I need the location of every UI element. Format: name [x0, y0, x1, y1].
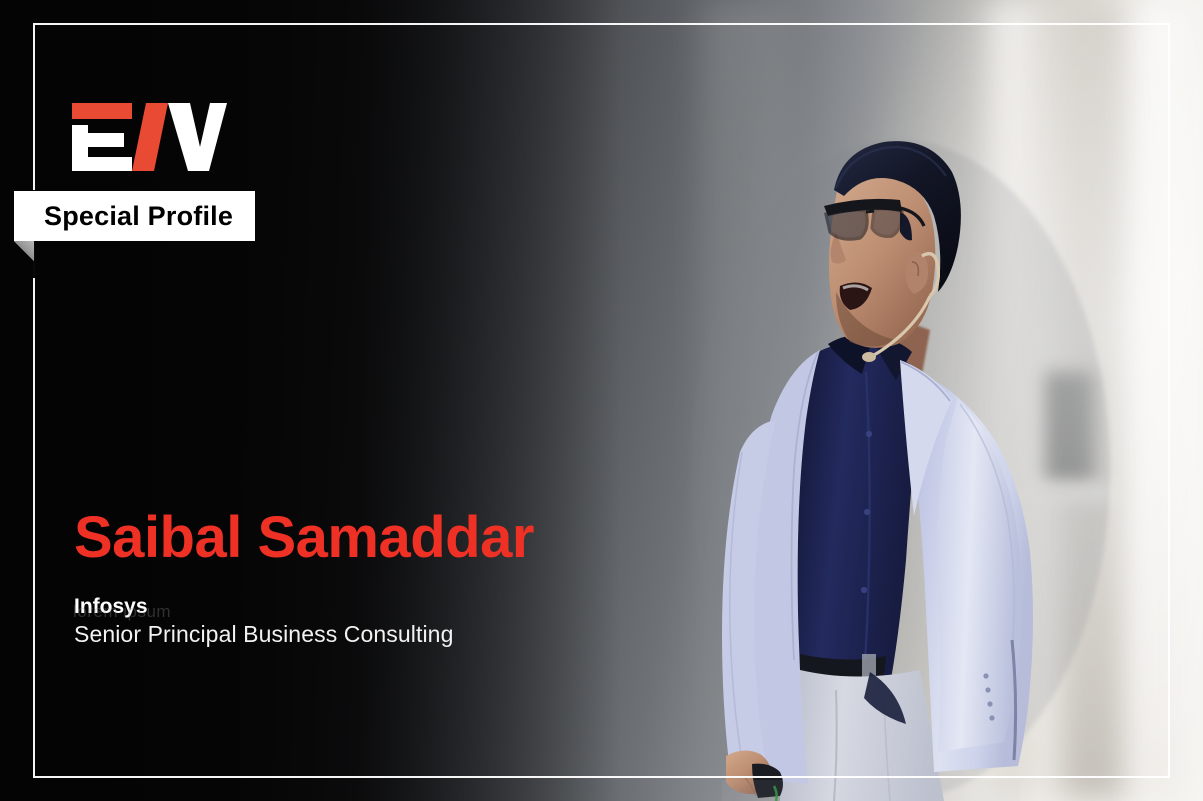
speaker-name: Saibal Samaddar — [74, 508, 714, 569]
speaker-role: Senior Principal Business Consulting — [74, 621, 714, 649]
special-profile-label: Special Profile — [44, 203, 233, 230]
special-profile-card: Special Profile Saibal Samaddar Infosys … — [0, 0, 1203, 801]
speaker-identity: Saibal Samaddar Infosys Senior Principal… — [74, 508, 714, 649]
ew-logo[interactable] — [72, 103, 227, 171]
badge-fold-shadow — [14, 241, 34, 261]
speaker-company: Infosys — [74, 595, 714, 619]
special-profile-badge: Special Profile — [14, 191, 255, 241]
